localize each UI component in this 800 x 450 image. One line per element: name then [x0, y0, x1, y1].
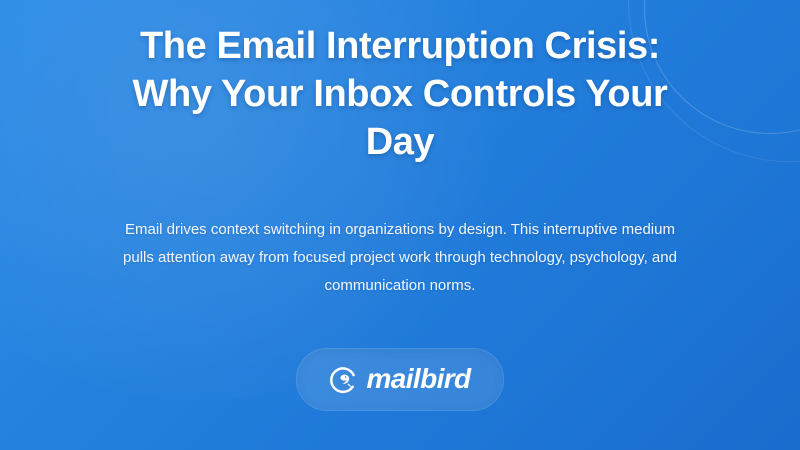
- brand-logo-area: mailbird: [0, 348, 800, 411]
- slide-content: The Email Interruption Crisis: Why Your …: [0, 0, 800, 450]
- page-title: The Email Interruption Crisis: Why Your …: [100, 22, 700, 166]
- page-title-line-1: The Email Interruption Crisis:: [140, 25, 660, 67]
- page-title-line-3: Day: [366, 121, 435, 163]
- title-slide: The Email Interruption Crisis: Why Your …: [0, 0, 800, 450]
- page-title-line-2: Why Your Inbox Controls Your: [133, 73, 668, 115]
- page-subtitle: Email drives context switching in organi…: [110, 216, 690, 300]
- mailbird-bird-icon: [329, 365, 359, 395]
- mailbird-logo-badge: mailbird: [296, 348, 504, 411]
- mailbird-wordmark: mailbird: [366, 364, 470, 396]
